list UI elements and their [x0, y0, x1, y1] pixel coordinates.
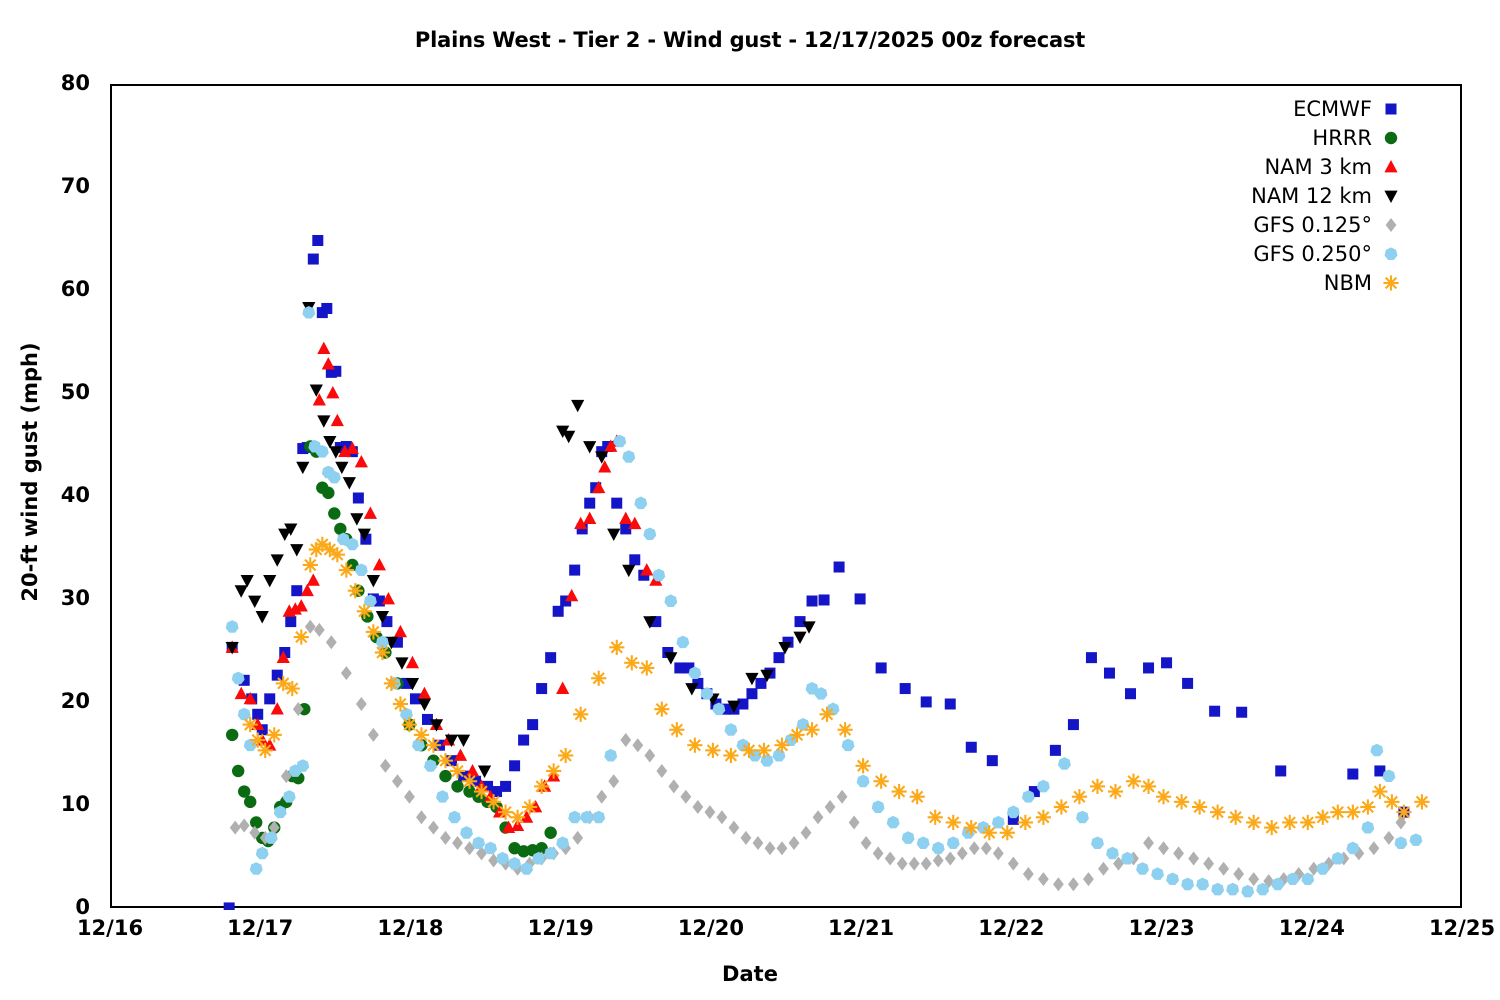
data-point: [380, 759, 391, 773]
data-point: [654, 702, 669, 717]
data-point: [932, 842, 945, 855]
data-point: [876, 662, 887, 673]
data-point: [1315, 810, 1330, 825]
data-point: [1233, 867, 1244, 881]
data-point: [1054, 799, 1069, 814]
data-point: [921, 696, 932, 707]
data-point: [402, 717, 417, 732]
y-tick-label: 50: [20, 380, 90, 404]
data-point: [837, 722, 852, 737]
data-point: [1008, 857, 1019, 871]
data-point: [339, 563, 354, 578]
legend-item-gfs-0-250[interactable]: GFS 0.250°: [1150, 239, 1410, 268]
data-point: [522, 799, 537, 814]
data-point: [1368, 841, 1379, 855]
data-point: [692, 800, 703, 814]
x-tick-label: 12/20: [631, 916, 791, 940]
series-nbm: [243, 537, 1430, 841]
data-point: [639, 660, 654, 675]
data-point: [857, 775, 870, 788]
data-point: [640, 563, 653, 575]
data-point: [982, 825, 997, 840]
data-point: [1104, 668, 1115, 679]
data-point: [250, 816, 262, 828]
data-point: [244, 796, 256, 808]
data-point: [553, 606, 564, 617]
data-point: [350, 513, 363, 525]
data-point: [384, 676, 399, 691]
data-point: [1409, 833, 1422, 846]
x-tick-label: 12/21: [781, 916, 941, 940]
y-tick-label: 40: [20, 483, 90, 507]
data-point: [773, 652, 784, 663]
data-point: [741, 831, 752, 845]
data-point: [1236, 707, 1247, 718]
data-point: [583, 441, 596, 453]
data-point: [1136, 862, 1149, 875]
data-point: [583, 512, 596, 524]
data-point: [556, 682, 569, 694]
data-point: [947, 836, 960, 849]
data-point: [239, 819, 250, 833]
data-point: [416, 810, 427, 824]
data-point: [235, 585, 248, 597]
data-point: [466, 764, 479, 776]
data-point: [928, 810, 943, 825]
data-point: [664, 594, 677, 607]
data-point: [404, 790, 415, 804]
data-point: [296, 462, 309, 474]
x-tick-label: 12/25: [1382, 916, 1500, 940]
data-point: [685, 683, 698, 695]
data-point: [1090, 779, 1105, 794]
data-point: [343, 477, 356, 489]
data-point: [917, 836, 930, 849]
x-tick-label: 12/24: [1232, 916, 1392, 940]
data-point: [285, 681, 300, 696]
data-point: [856, 758, 871, 773]
data-point: [668, 779, 679, 793]
data-point: [609, 640, 624, 655]
data-point: [448, 811, 461, 824]
data-point: [861, 836, 872, 850]
data-point: [1091, 836, 1104, 849]
data-point: [1210, 805, 1225, 820]
data-point: [308, 254, 319, 265]
data-point: [256, 847, 269, 860]
data-point: [604, 749, 617, 762]
data-point: [705, 743, 720, 758]
data-point: [1196, 878, 1209, 891]
data-point: [250, 862, 263, 875]
series-ecmwf: [224, 235, 1410, 910]
x-tick-label: 12/19: [481, 916, 641, 940]
data-point: [534, 779, 549, 794]
data-point: [837, 790, 848, 804]
data-point: [326, 386, 339, 398]
data-point: [1072, 789, 1087, 804]
data-point: [1174, 794, 1189, 809]
data-point: [302, 306, 315, 319]
legend-item-nbm[interactable]: NBM: [1150, 268, 1410, 297]
data-point: [572, 831, 583, 845]
data-point: [1125, 688, 1136, 699]
data-point: [761, 754, 774, 767]
data-point: [620, 733, 631, 747]
legend-marker-circle-icon: [1380, 127, 1402, 149]
y-tick-label: 20: [20, 689, 90, 713]
data-point: [243, 717, 258, 732]
legend-item-gfs-0-125[interactable]: GFS 0.125°: [1150, 210, 1410, 239]
data-point: [1282, 815, 1297, 830]
data-point: [724, 723, 737, 736]
data-point: [500, 781, 511, 792]
y-tick-label: 70: [20, 174, 90, 198]
x-tick-label: 12/18: [330, 916, 490, 940]
data-point: [1394, 836, 1407, 849]
legend-marker-heptagon-icon: [1380, 243, 1402, 265]
data-point: [1248, 872, 1259, 886]
data-point: [394, 625, 407, 637]
data-point: [687, 738, 702, 753]
data-point: [807, 596, 818, 607]
data-point: [357, 604, 372, 619]
data-point: [595, 451, 608, 463]
data-point: [235, 687, 248, 699]
data-point: [418, 699, 431, 711]
legend-item-ecmwf[interactable]: ECMWF: [1150, 94, 1410, 123]
data-point: [1330, 805, 1345, 820]
data-point: [368, 728, 379, 742]
data-point: [619, 512, 632, 524]
data-point: [656, 764, 667, 778]
data-point: [1108, 784, 1123, 799]
data-point: [1370, 744, 1383, 757]
data-point: [1126, 774, 1141, 789]
data-point: [819, 707, 834, 722]
data-point: [669, 722, 684, 737]
data-point: [544, 827, 556, 839]
data-point: [314, 623, 325, 637]
data-point: [897, 857, 908, 871]
data-point: [474, 784, 489, 799]
data-point: [1360, 799, 1375, 814]
data-point: [565, 589, 578, 601]
data-point: [1156, 789, 1171, 804]
data-point: [438, 753, 453, 768]
data-point: [460, 826, 473, 839]
data-point: [1188, 852, 1199, 866]
data-point: [1158, 841, 1169, 855]
data-point: [256, 611, 269, 623]
data-point: [1396, 805, 1411, 820]
data-point: [1173, 846, 1184, 860]
data-point: [632, 738, 643, 752]
data-point: [946, 815, 961, 830]
data-point: [258, 743, 273, 758]
data-point: [834, 562, 845, 573]
data-point: [546, 763, 561, 778]
data-point: [1209, 706, 1220, 717]
data-point: [1068, 719, 1079, 730]
data-point: [1058, 757, 1071, 770]
data-point: [1218, 862, 1229, 876]
data-point: [737, 699, 748, 710]
data-point: [993, 846, 1004, 860]
data-point: [322, 487, 334, 499]
data-point: [1050, 745, 1061, 756]
data-point: [900, 683, 911, 694]
data-point: [1414, 794, 1429, 809]
data-point: [348, 583, 363, 598]
data-point: [1143, 662, 1154, 673]
data-point: [717, 810, 728, 824]
data-point: [457, 735, 470, 747]
legend-marker-asterisk-icon: [1380, 272, 1402, 294]
data-point: [591, 671, 606, 686]
data-point: [1345, 805, 1360, 820]
data-point: [232, 765, 244, 777]
data-point: [813, 810, 824, 824]
data-point: [1372, 784, 1387, 799]
legend-marker-square-icon: [1380, 98, 1402, 120]
legend-marker-triangle-up-icon: [1380, 156, 1402, 178]
data-point: [753, 836, 764, 850]
data-point: [773, 749, 786, 762]
data-point: [676, 636, 689, 649]
legend-item-nam-12-km[interactable]: NAM 12 km: [1150, 181, 1410, 210]
data-point: [704, 805, 715, 819]
data-point: [1098, 862, 1109, 876]
data-point: [644, 749, 655, 763]
chart-title: Plains West - Tier 2 - Wind gust - 12/17…: [0, 28, 1500, 52]
data-point: [509, 760, 520, 771]
data-point: [291, 585, 302, 596]
data-point: [454, 749, 467, 761]
data-point: [436, 790, 449, 803]
x-tick-label: 12/22: [931, 916, 1091, 940]
data-point: [933, 854, 944, 868]
data-point: [569, 565, 580, 576]
data-point: [842, 739, 855, 752]
data-point: [250, 732, 265, 747]
data-point: [629, 554, 640, 565]
data-point: [622, 565, 635, 577]
data-point: [366, 624, 381, 639]
data-point: [1161, 657, 1172, 668]
data-point: [1246, 815, 1261, 830]
legend-item-hrrr[interactable]: HRRR: [1150, 123, 1410, 152]
data-point: [1384, 794, 1399, 809]
data-point: [873, 846, 884, 860]
data-point: [1181, 878, 1194, 891]
legend-item-nam-3-km[interactable]: NAM 3 km: [1150, 152, 1410, 181]
data-point: [373, 558, 386, 570]
data-point: [375, 645, 390, 660]
data-point: [230, 821, 241, 835]
data-point: [558, 748, 573, 763]
data-point: [789, 836, 800, 850]
data-point: [1143, 836, 1154, 850]
data-point: [331, 414, 344, 426]
data-point: [527, 719, 538, 730]
y-axis-label: 20-ft wind gust (mph): [18, 242, 42, 702]
data-point: [584, 498, 595, 509]
data-point: [622, 450, 635, 463]
data-point: [462, 774, 477, 789]
data-point: [326, 635, 337, 649]
data-point: [226, 729, 238, 741]
data-point: [987, 755, 998, 766]
data-point: [1361, 821, 1374, 834]
data-point: [1182, 678, 1193, 689]
data-point: [1166, 873, 1179, 886]
data-point: [393, 696, 408, 711]
data-point: [1347, 769, 1358, 780]
data-point: [789, 727, 804, 742]
data-point: [872, 800, 885, 813]
data-point: [598, 460, 611, 472]
data-point: [1106, 847, 1119, 860]
data-point: [1053, 877, 1064, 891]
data-point: [945, 852, 956, 866]
data-point: [428, 821, 439, 835]
data-point: [825, 800, 836, 814]
data-point: [271, 554, 284, 566]
data-point: [1076, 811, 1089, 824]
data-point: [855, 593, 866, 604]
x-tick-label: 12/16: [30, 916, 190, 940]
data-point: [267, 727, 282, 742]
data-point: [294, 629, 309, 644]
data-point: [634, 497, 647, 510]
data-point: [981, 841, 992, 855]
data-point: [303, 557, 318, 572]
data-point: [1241, 885, 1254, 898]
data-point: [596, 790, 607, 804]
data-point: [680, 790, 691, 804]
data-point: [892, 784, 907, 799]
data-point: [545, 652, 556, 663]
data-point: [1083, 872, 1094, 886]
data-point: [440, 831, 451, 845]
data-point: [414, 727, 429, 742]
data-point: [1192, 799, 1207, 814]
data-point: [1275, 765, 1286, 776]
data-point: [356, 697, 367, 711]
legend-marker-triangle-down-icon: [1380, 185, 1402, 207]
data-point: [887, 816, 900, 829]
data-point: [418, 687, 431, 699]
x-tick-label: 12/23: [1082, 916, 1242, 940]
data-point: [310, 384, 323, 396]
legend-marker-diamond-icon: [1380, 214, 1402, 236]
data-point: [765, 841, 776, 855]
data-point: [801, 826, 812, 840]
data-point: [367, 575, 380, 587]
data-point: [290, 544, 303, 556]
data-point: [957, 846, 968, 860]
data-point: [1228, 810, 1243, 825]
data-point: [400, 708, 413, 721]
data-point: [328, 507, 340, 519]
data-point: [1023, 867, 1034, 881]
data-point: [1211, 883, 1224, 896]
data-point: [910, 789, 925, 804]
data-point: [774, 738, 789, 753]
data-point: [573, 707, 588, 722]
data-point: [451, 780, 463, 792]
data-point: [568, 811, 581, 824]
data-point: [729, 821, 740, 835]
data-point: [224, 902, 235, 910]
data-point: [723, 748, 738, 763]
data-point: [793, 632, 806, 644]
data-point: [902, 831, 915, 844]
data-point: [238, 708, 251, 721]
data-point: [849, 815, 860, 829]
data-point: [1383, 831, 1394, 845]
data-point: [755, 678, 766, 689]
data-point: [1141, 779, 1156, 794]
data-point: [285, 616, 296, 627]
x-axis-label: Date: [0, 962, 1500, 986]
data-point: [1000, 825, 1015, 840]
chart-page: Plains West - Tier 2 - Wind gust - 12/17…: [0, 0, 1500, 1000]
data-point: [1264, 820, 1279, 835]
y-tick-label: 80: [20, 71, 90, 95]
data-point: [777, 841, 788, 855]
data-point: [1036, 810, 1051, 825]
data-point: [741, 743, 756, 758]
data-point: [874, 774, 889, 789]
data-point: [945, 699, 956, 710]
data-point: [611, 498, 622, 509]
data-point: [317, 415, 330, 427]
data-point: [571, 400, 584, 412]
data-point: [746, 688, 757, 699]
data-point: [966, 742, 977, 753]
data-point: [885, 852, 896, 866]
data-point: [264, 693, 275, 704]
data-point: [392, 774, 403, 788]
data-point: [321, 303, 332, 314]
data-point: [450, 763, 465, 778]
data-point: [353, 493, 364, 504]
data-point: [263, 575, 276, 587]
data-point: [804, 722, 819, 737]
data-point: [510, 810, 525, 825]
y-tick-label: 60: [20, 277, 90, 301]
data-point: [313, 393, 326, 405]
data-point: [272, 670, 283, 681]
x-tick-label: 12/17: [180, 916, 340, 940]
data-point: [536, 683, 547, 694]
data-point: [992, 816, 1005, 829]
data-point: [909, 857, 920, 871]
data-point: [921, 857, 932, 871]
data-point: [307, 573, 320, 585]
data-point: [1203, 857, 1214, 871]
data-point: [1300, 815, 1315, 830]
data-point: [608, 774, 619, 788]
data-point: [1151, 867, 1164, 880]
data-point: [643, 527, 656, 540]
data-point: [756, 743, 771, 758]
data-point: [1086, 652, 1097, 663]
data-point: [1068, 877, 1079, 891]
data-point: [452, 836, 463, 850]
